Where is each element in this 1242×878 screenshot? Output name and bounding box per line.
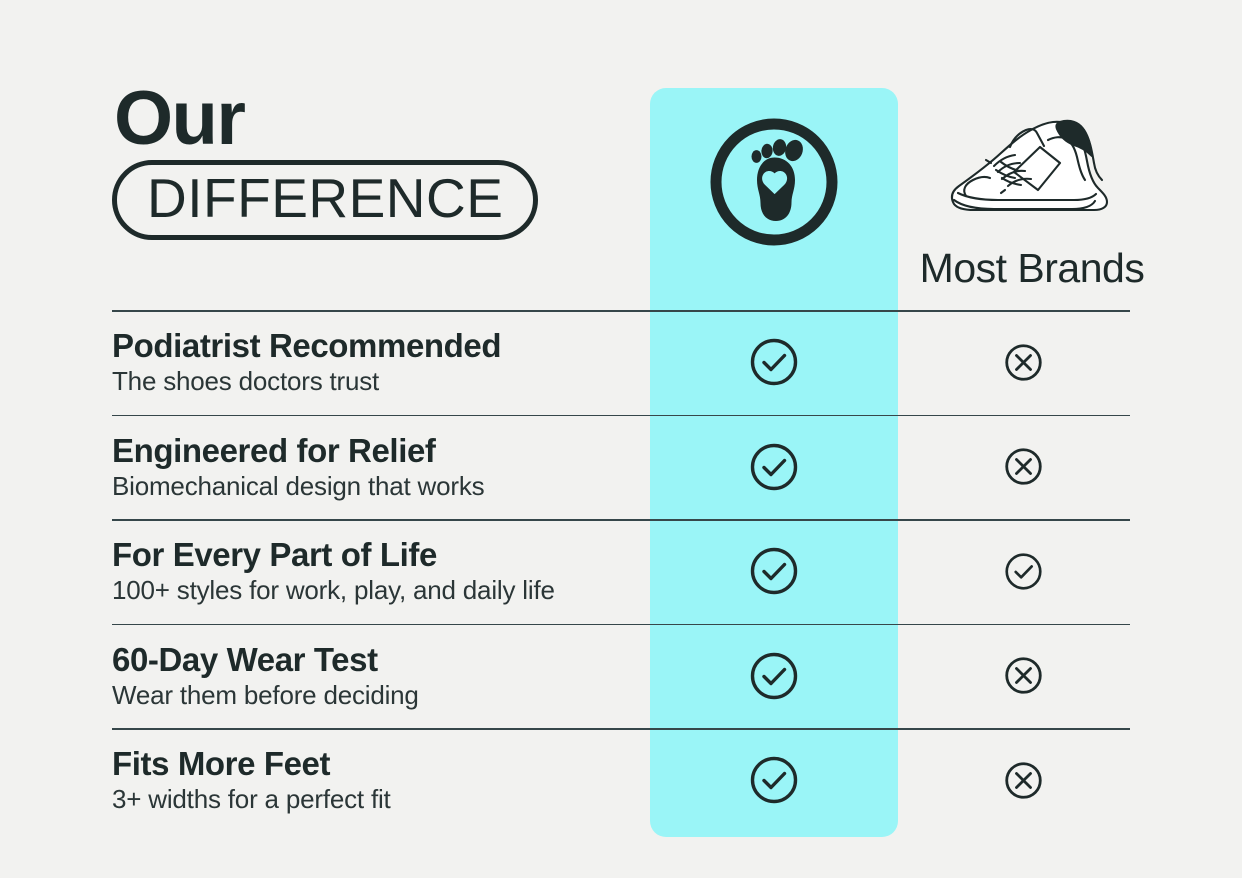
ours-cell — [650, 415, 898, 520]
table-row: Engineered for ReliefBiomechanical desig… — [0, 415, 1242, 520]
feature-title: For Every Part of Life — [112, 536, 642, 574]
cross-circle-icon — [1004, 447, 1043, 486]
check-circle-icon — [749, 442, 799, 492]
table-row: 60-Day Wear TestWear them before decidin… — [0, 624, 1242, 729]
check-circle-icon — [749, 546, 799, 596]
cross-circle-icon — [1004, 761, 1043, 800]
most-brands-cell — [898, 728, 1148, 833]
cross-circle-icon — [1004, 343, 1043, 382]
title-pill-outline: DIFFERENCE — [112, 160, 538, 240]
sneaker-icon — [944, 100, 1120, 228]
cross-circle-icon — [1004, 656, 1043, 695]
footprint-heart-circle-icon — [704, 112, 844, 252]
check-circle-icon — [1004, 552, 1043, 591]
check-circle-icon — [749, 337, 799, 387]
feature-cell: For Every Part of Life100+ styles for wo… — [112, 519, 642, 624]
most-brands-cell — [898, 415, 1148, 520]
table-row: For Every Part of Life100+ styles for wo… — [0, 519, 1242, 624]
check-circle-icon — [749, 755, 799, 805]
check-circle-icon — [749, 651, 799, 701]
feature-title: Podiatrist Recommended — [112, 327, 642, 365]
feature-subtitle: The shoes doctors trust — [112, 366, 642, 397]
feature-subtitle: Biomechanical design that works — [112, 471, 642, 502]
most-brands-cell — [898, 624, 1148, 729]
most-brands-cell — [898, 310, 1148, 415]
feature-subtitle: 100+ styles for work, play, and daily li… — [112, 575, 642, 606]
page-title: Our DIFFERENCE — [112, 84, 538, 240]
feature-title: 60-Day Wear Test — [112, 641, 642, 679]
table-row: Fits More Feet3+ widths for a perfect fi… — [0, 728, 1242, 833]
comparison-table-page: Our DIFFERENCE — [0, 0, 1242, 878]
ours-cell — [650, 624, 898, 729]
feature-title: Engineered for Relief — [112, 432, 642, 470]
feature-title: Fits More Feet — [112, 745, 642, 783]
feature-cell: Fits More Feet3+ widths for a perfect fi… — [112, 728, 642, 833]
feature-cell: 60-Day Wear TestWear them before decidin… — [112, 624, 642, 729]
feature-cell: Engineered for ReliefBiomechanical desig… — [112, 415, 642, 520]
feature-subtitle: 3+ widths for a perfect fit — [112, 784, 642, 815]
column-header-most-brands: Most Brands — [898, 246, 1166, 291]
feature-cell: Podiatrist RecommendedThe shoes doctors … — [112, 310, 642, 415]
ours-cell — [650, 519, 898, 624]
title-line-difference: DIFFERENCE — [147, 170, 503, 226]
table-row: Podiatrist RecommendedThe shoes doctors … — [0, 310, 1242, 415]
title-line-our: Our — [114, 84, 538, 154]
ours-cell — [650, 728, 898, 833]
feature-subtitle: Wear them before deciding — [112, 680, 642, 711]
ours-cell — [650, 310, 898, 415]
most-brands-cell — [898, 519, 1148, 624]
